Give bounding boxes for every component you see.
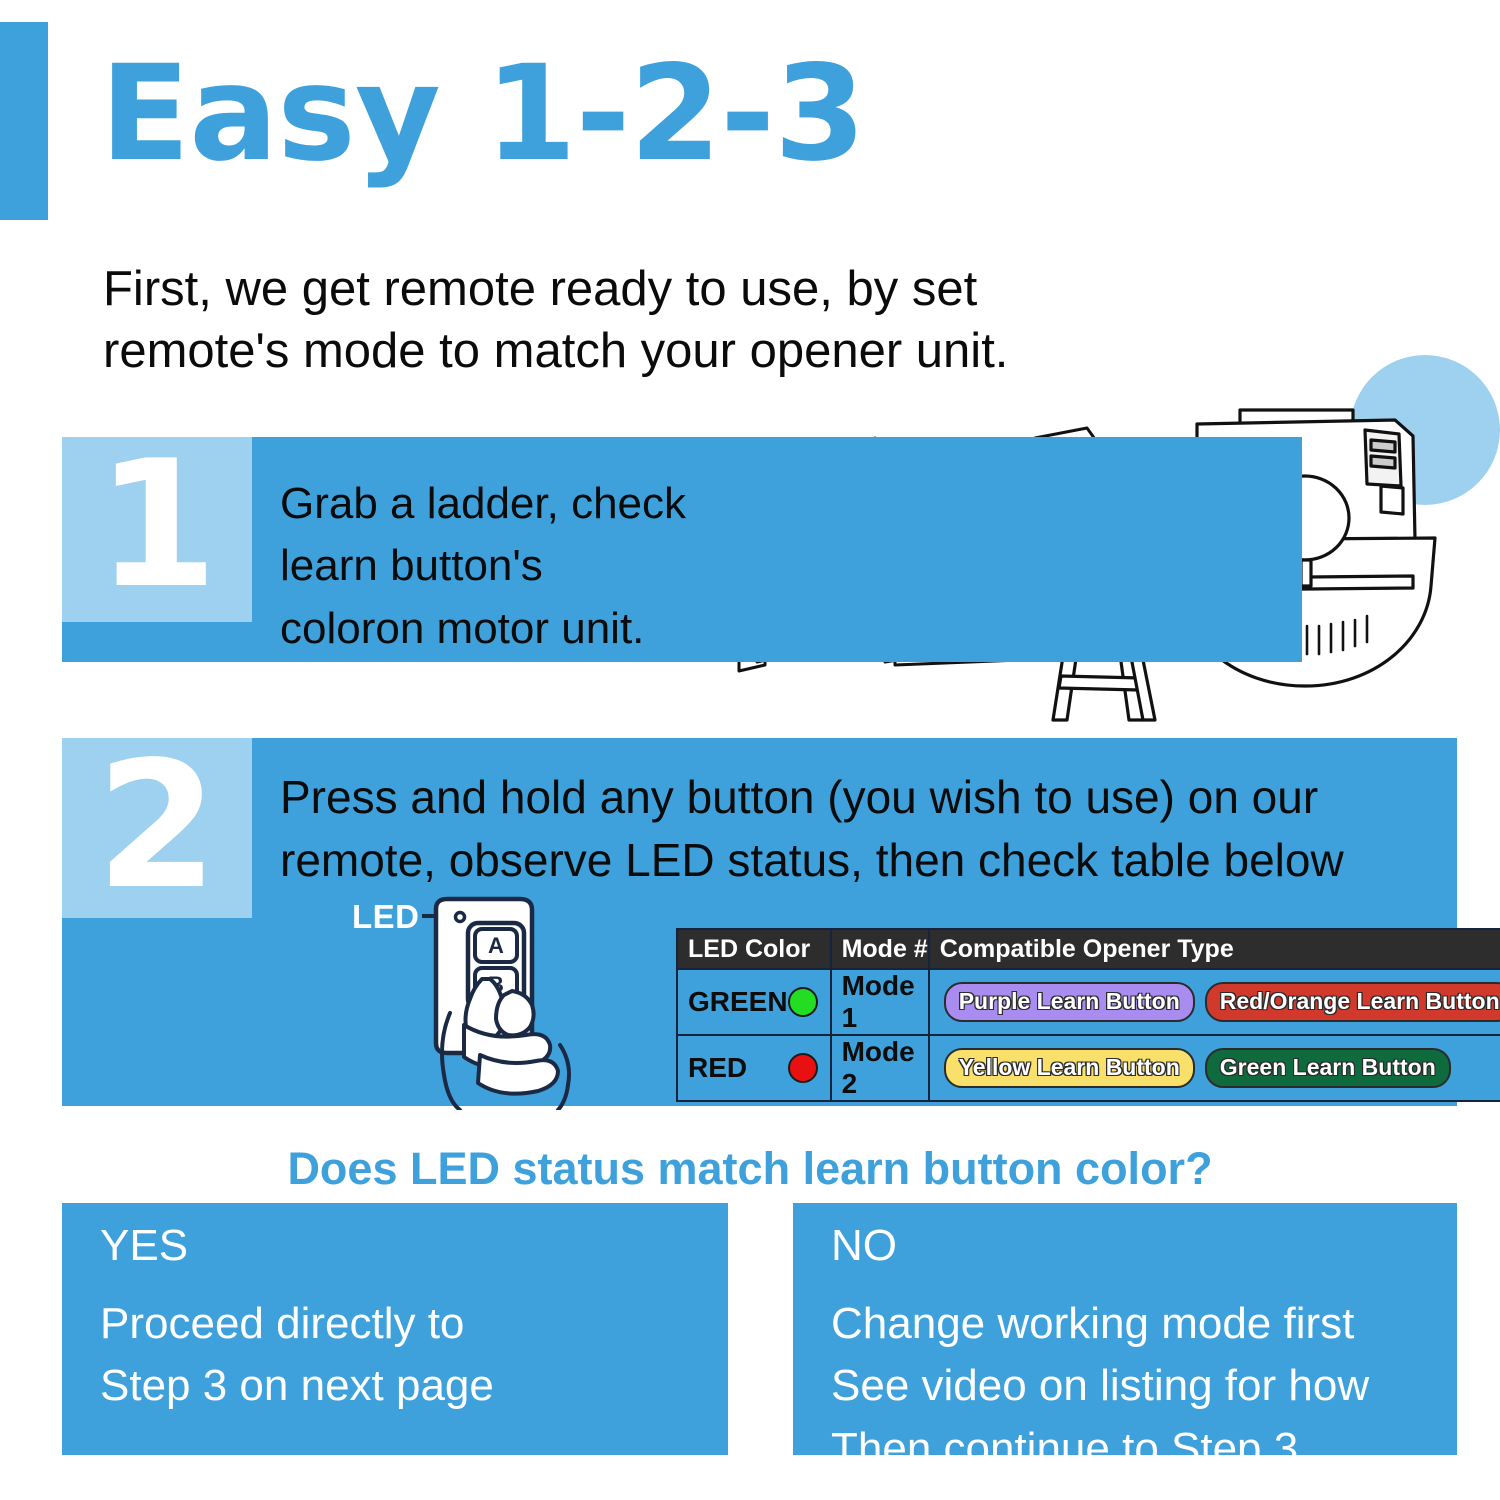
header-mode: Mode # bbox=[831, 929, 929, 969]
led-dot-green-icon bbox=[788, 987, 818, 1017]
step-1-number: 1 bbox=[62, 437, 252, 622]
answer-box-yes: YES Proceed directly to Step 3 on next p… bbox=[62, 1203, 728, 1455]
badge-red-orange-learn-button: Red/Orange Learn Button bbox=[1205, 982, 1500, 1022]
step-2-text: Press and hold any button (you wish to u… bbox=[280, 766, 1450, 893]
led-color-label-green: GREEN bbox=[688, 986, 788, 1018]
step-2-line-1: Press and hold any button (you wish to u… bbox=[280, 766, 1450, 829]
answer-box-no: NO Change working mode first See video o… bbox=[793, 1203, 1457, 1455]
answer-no-line-2: See video on listing for how bbox=[831, 1355, 1369, 1417]
table-row: GREEN Mode 1 Purple Learn Button Red/Ora… bbox=[677, 969, 1500, 1035]
step-2-number: 2 bbox=[62, 738, 252, 918]
led-mode-table: LED Color Mode # Compatible Opener Type … bbox=[676, 928, 1500, 1102]
cell-mode-2: Mode 2 bbox=[831, 1035, 929, 1101]
answer-yes-line-2: Step 3 on next page bbox=[100, 1355, 494, 1417]
answer-no-body: Change working mode first See video on l… bbox=[831, 1293, 1369, 1480]
page-title: Easy 1-2-3 bbox=[100, 48, 865, 180]
step-1-line-3: coloron motor unit. bbox=[280, 598, 800, 660]
badge-green-learn-button: Green Learn Button bbox=[1205, 1048, 1451, 1088]
step-1-line-1: Grab a ladder, check bbox=[280, 473, 800, 535]
step-2-line-2: remote, observe LED status, then check t… bbox=[280, 829, 1450, 892]
decision-question: Does LED status match learn button color… bbox=[0, 1143, 1500, 1195]
led-color-label-red: RED bbox=[688, 1052, 747, 1084]
remote-control-illustration: A B bbox=[420, 895, 630, 1110]
intro-paragraph: First, we get remote ready to use, by se… bbox=[103, 258, 1263, 382]
step-1-line-2: learn button's bbox=[280, 535, 800, 597]
remote-led-indicator bbox=[456, 913, 465, 922]
intro-line-2: remote's mode to match your opener unit. bbox=[103, 320, 1263, 382]
table-header-row: LED Color Mode # Compatible Opener Type bbox=[677, 929, 1500, 969]
cell-openers-mode-1: Purple Learn Button Red/Orange Learn But… bbox=[929, 969, 1500, 1035]
led-dot-red-icon bbox=[788, 1053, 818, 1083]
header-opener: Compatible Opener Type bbox=[929, 929, 1500, 969]
cell-led-color-green: GREEN bbox=[677, 969, 831, 1035]
answer-yes-body: Proceed directly to Step 3 on next page bbox=[100, 1293, 494, 1418]
badge-yellow-learn-button: Yellow Learn Button bbox=[944, 1048, 1195, 1088]
answer-no-line-3: Then continue to Step 3 bbox=[831, 1418, 1369, 1480]
intro-line-1: First, we get remote ready to use, by se… bbox=[103, 258, 1263, 320]
answer-yes-line-1: Proceed directly to bbox=[100, 1293, 494, 1355]
answer-yes-title: YES bbox=[100, 1221, 188, 1271]
answer-no-line-1: Change working mode first bbox=[831, 1293, 1369, 1355]
step-1-text: Grab a ladder, check learn button's colo… bbox=[280, 473, 800, 660]
answer-no-title: NO bbox=[831, 1221, 897, 1271]
cell-openers-mode-2: Yellow Learn Button Green Learn Button bbox=[929, 1035, 1500, 1101]
left-accent-bar bbox=[0, 22, 48, 220]
cell-mode-1: Mode 1 bbox=[831, 969, 929, 1035]
header-led-color: LED Color bbox=[677, 929, 831, 969]
table-row: RED Mode 2 Yellow Learn Button Green Lea… bbox=[677, 1035, 1500, 1101]
step-1-band: 1 Grab a ladder, check learn button's co… bbox=[62, 437, 1302, 662]
decorative-circle bbox=[1350, 355, 1500, 505]
cell-led-color-red: RED bbox=[677, 1035, 831, 1101]
remote-button-a-label: A bbox=[488, 933, 504, 958]
led-label: LED bbox=[352, 898, 420, 936]
badge-purple-learn-button: Purple Learn Button bbox=[944, 982, 1195, 1022]
